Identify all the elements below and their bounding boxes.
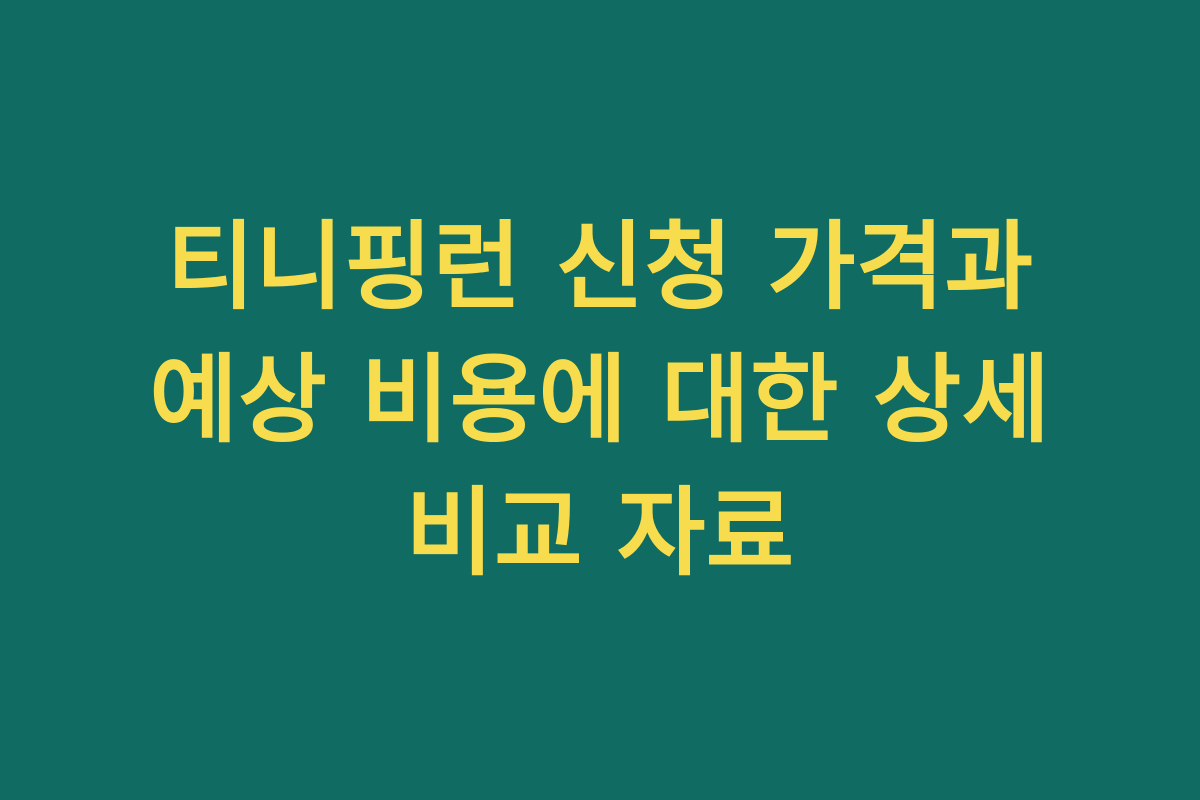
headline-text: 티니핑런 신청 가격과 예상 비용에 대한 상세 비교 자료	[100, 201, 1100, 600]
thumbnail-card: 티니핑런 신청 가격과 예상 비용에 대한 상세 비교 자료	[0, 0, 1200, 800]
